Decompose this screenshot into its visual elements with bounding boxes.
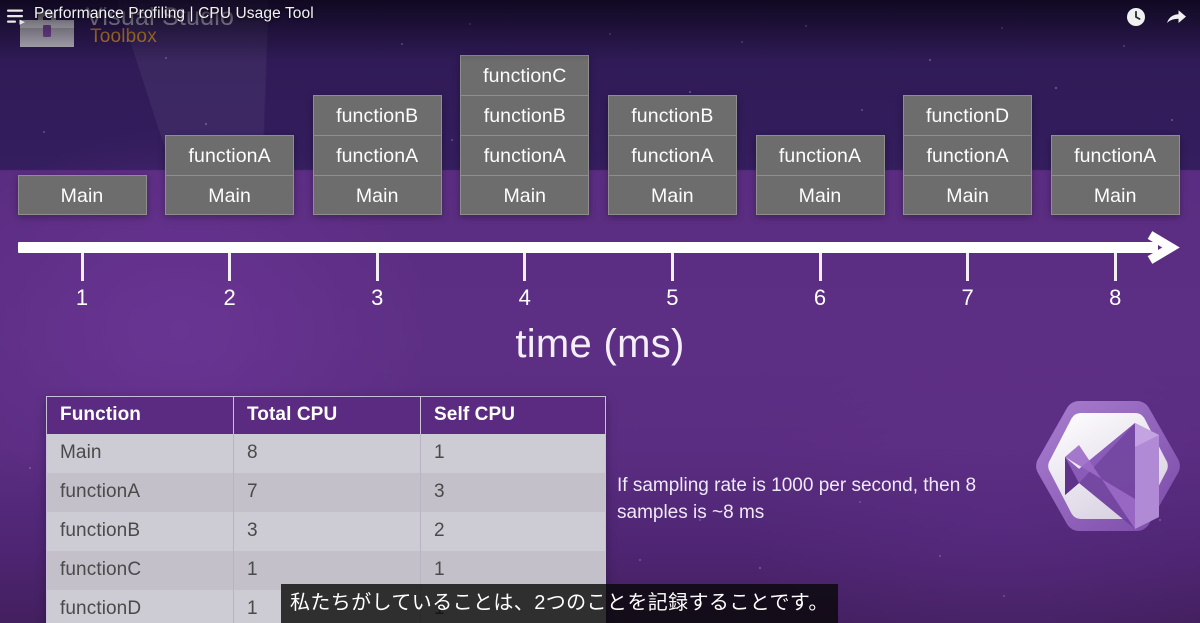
stack-frame: Main: [165, 175, 294, 215]
table-header-row: Function Total CPU Self CPU: [47, 397, 606, 435]
stack-frame: Main: [1051, 175, 1180, 215]
axis-tick: [1114, 253, 1117, 281]
stack-frame: functionA: [608, 135, 737, 175]
table-row: Main81: [47, 434, 606, 473]
cell-self-cpu: 3: [421, 473, 606, 512]
stack-frame: functionA: [1051, 135, 1180, 175]
axis-tick-label: 2: [210, 285, 250, 311]
call-stack: functionBfunctionAMain: [313, 95, 442, 215]
sampling-rate-note: If sampling rate is 1000 per second, the…: [617, 472, 1037, 526]
call-stack: functionAMain: [756, 135, 885, 215]
arrow-right-icon: [1146, 228, 1184, 268]
table-row: functionA73: [47, 473, 606, 512]
axis-tick: [228, 253, 231, 281]
axis-tick: [966, 253, 969, 281]
stack-frame: functionB: [460, 95, 589, 135]
stack-frame: functionA: [903, 135, 1032, 175]
stack-frame: functionD: [903, 95, 1032, 135]
axis-tick-label: 3: [357, 285, 397, 311]
table-row: functionB32: [47, 512, 606, 551]
stack-frame: Main: [756, 175, 885, 215]
axis-caption: time (ms): [0, 322, 1200, 367]
axis-tick: [81, 253, 84, 281]
stack-frame: functionA: [313, 135, 442, 175]
call-stack: functionCfunctionBfunctionAMain: [460, 55, 589, 215]
column-header-function: Function: [47, 397, 234, 435]
stack-frame: Main: [460, 175, 589, 215]
stack-frame: Main: [903, 175, 1032, 215]
call-stack: functionAMain: [165, 135, 294, 215]
visual-studio-logo-icon: [1019, 387, 1197, 565]
axis-tick-label: 7: [948, 285, 988, 311]
axis-tick-label: 5: [652, 285, 692, 311]
call-stack: Main: [18, 175, 147, 215]
stack-frame: functionA: [460, 135, 589, 175]
cell-self-cpu: 2: [421, 512, 606, 551]
axis-tick: [819, 253, 822, 281]
video-title[interactable]: Performance Profiling | CPU Usage Tool: [34, 5, 314, 23]
cell-function: functionC: [47, 551, 234, 590]
stack-frame: functionB: [313, 95, 442, 135]
axis-tick: [376, 253, 379, 281]
axis-tick: [523, 253, 526, 281]
cell-total-cpu: 3: [234, 512, 421, 551]
call-stack: functionBfunctionAMain: [608, 95, 737, 215]
cell-function: functionA: [47, 473, 234, 512]
column-header-self-cpu: Self CPU: [421, 397, 606, 435]
axis-tick: [671, 253, 674, 281]
column-header-total-cpu: Total CPU: [234, 397, 421, 435]
axis-tick-label: 8: [1095, 285, 1135, 311]
share-arrow-icon[interactable]: [1164, 5, 1188, 29]
slide-canvas: Visual Studio Toolbox MainfunctionAMainf…: [0, 0, 1200, 623]
stack-frame: functionB: [608, 95, 737, 135]
cell-total-cpu: 7: [234, 473, 421, 512]
call-stack: functionDfunctionAMain: [903, 95, 1032, 215]
cell-function: functionB: [47, 512, 234, 551]
cell-self-cpu: 1: [421, 434, 606, 473]
time-axis-line: [18, 242, 1158, 253]
stack-frame: functionA: [756, 135, 885, 175]
cell-total-cpu: 8: [234, 434, 421, 473]
axis-tick-label: 1: [62, 285, 102, 311]
stack-frame: Main: [313, 175, 442, 215]
playlist-icon[interactable]: [6, 7, 28, 27]
cell-function: Main: [47, 434, 234, 473]
subtitle-caption: 私たちがしていることは、2つのことを記録することです。: [281, 584, 838, 623]
axis-tick-label: 6: [800, 285, 840, 311]
stack-frame: Main: [608, 175, 737, 215]
player-top-actions: [1124, 5, 1188, 29]
axis-tick-label: 4: [505, 285, 545, 311]
stack-frame: Main: [18, 175, 147, 215]
stack-frame: functionA: [165, 135, 294, 175]
call-stack: functionAMain: [1051, 135, 1180, 215]
cell-function: functionD: [47, 590, 234, 623]
clock-icon[interactable]: [1124, 5, 1148, 29]
